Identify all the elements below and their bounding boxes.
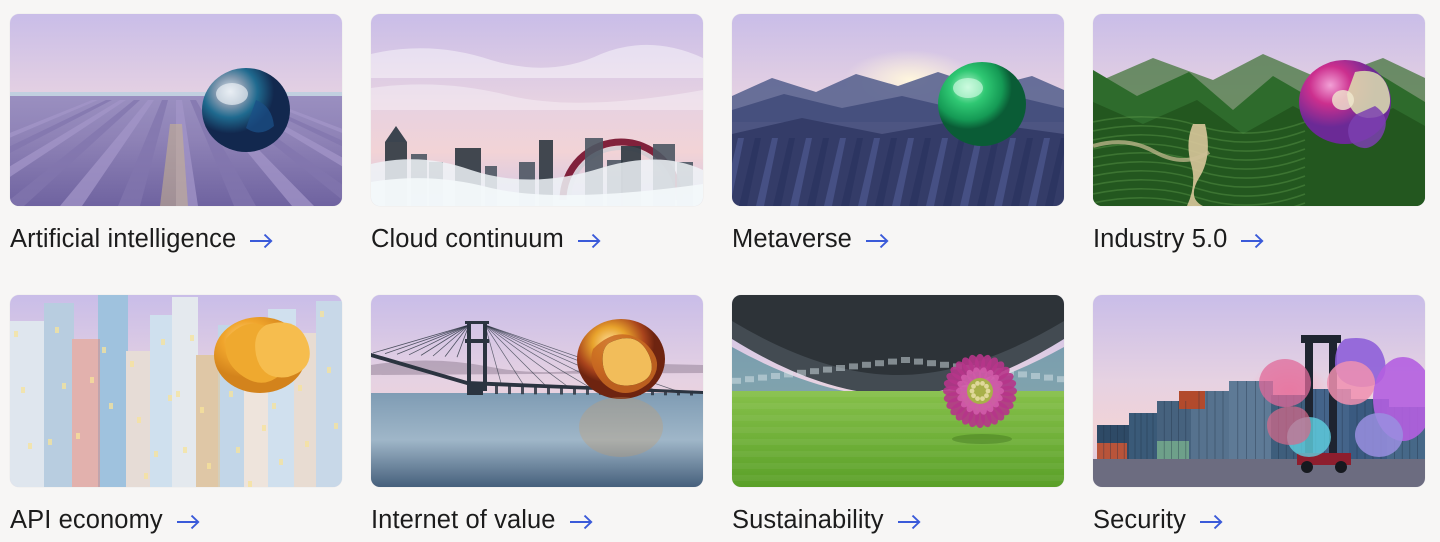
topic-card-title: Artificial intelligence <box>10 224 236 254</box>
topic-card-metaverse[interactable]: Metaverse <box>732 14 1064 295</box>
topic-card-caption: Industry 5.0 <box>1093 224 1425 254</box>
topic-card-caption: Cloud continuum <box>371 224 703 254</box>
arrow-right-icon[interactable] <box>577 232 603 250</box>
topic-card-thumbnail-lavender-field-dusk[interactable] <box>10 14 342 206</box>
topic-card-thumbnail-bridge-over-water[interactable] <box>371 295 703 487</box>
arrow-right-icon[interactable] <box>249 232 275 250</box>
topic-card-title: Sustainability <box>732 505 884 535</box>
topic-card-title: Metaverse <box>732 224 852 254</box>
topic-card-caption: Metaverse <box>732 224 1064 254</box>
topic-card-thumbnail-stadium-pitch[interactable] <box>732 295 1064 487</box>
topic-card-title: Security <box>1093 505 1186 535</box>
topic-card-thumbnail-city-above-clouds[interactable] <box>371 14 703 206</box>
topic-card-thumbnail-solar-farm-hills[interactable] <box>732 14 1064 206</box>
topic-card-industry-5-0[interactable]: Industry 5.0 <box>1093 14 1425 295</box>
topics-card-grid: Artificial intelligence Cloud continuum … <box>10 0 1440 542</box>
arrow-right-icon[interactable] <box>897 513 923 531</box>
topic-card-title: Industry 5.0 <box>1093 224 1227 254</box>
arrow-right-icon[interactable] <box>569 513 595 531</box>
arrow-right-icon[interactable] <box>865 232 891 250</box>
topic-card-caption: Internet of value <box>371 505 703 535</box>
arrow-right-icon[interactable] <box>176 513 202 531</box>
topic-card-title: Cloud continuum <box>371 224 564 254</box>
topic-card-thumbnail-terraced-green-valley[interactable] <box>1093 14 1425 206</box>
topic-card-title: API economy <box>10 505 163 535</box>
arrow-right-icon[interactable] <box>1240 232 1266 250</box>
topic-card-cloud-continuum[interactable]: Cloud continuum <box>371 14 703 295</box>
topic-card-caption: Sustainability <box>732 505 1064 535</box>
topic-card-artificial-intelligence[interactable]: Artificial intelligence <box>10 14 342 295</box>
topic-card-internet-of-value[interactable]: Internet of value <box>371 295 703 541</box>
topic-card-sustainability[interactable]: Sustainability <box>732 295 1064 541</box>
topic-card-title: Internet of value <box>371 505 556 535</box>
topic-card-caption: API economy <box>10 505 342 535</box>
arrow-right-icon[interactable] <box>1199 513 1225 531</box>
topic-card-api-economy[interactable]: API economy <box>10 295 342 541</box>
topic-card-caption: Artificial intelligence <box>10 224 342 254</box>
topic-card-thumbnail-city-skyscrapers[interactable] <box>10 295 342 487</box>
topic-card-thumbnail-container-yard-dusk[interactable] <box>1093 295 1425 487</box>
topic-card-caption: Security <box>1093 505 1425 535</box>
topic-card-security[interactable]: Security <box>1093 295 1425 541</box>
